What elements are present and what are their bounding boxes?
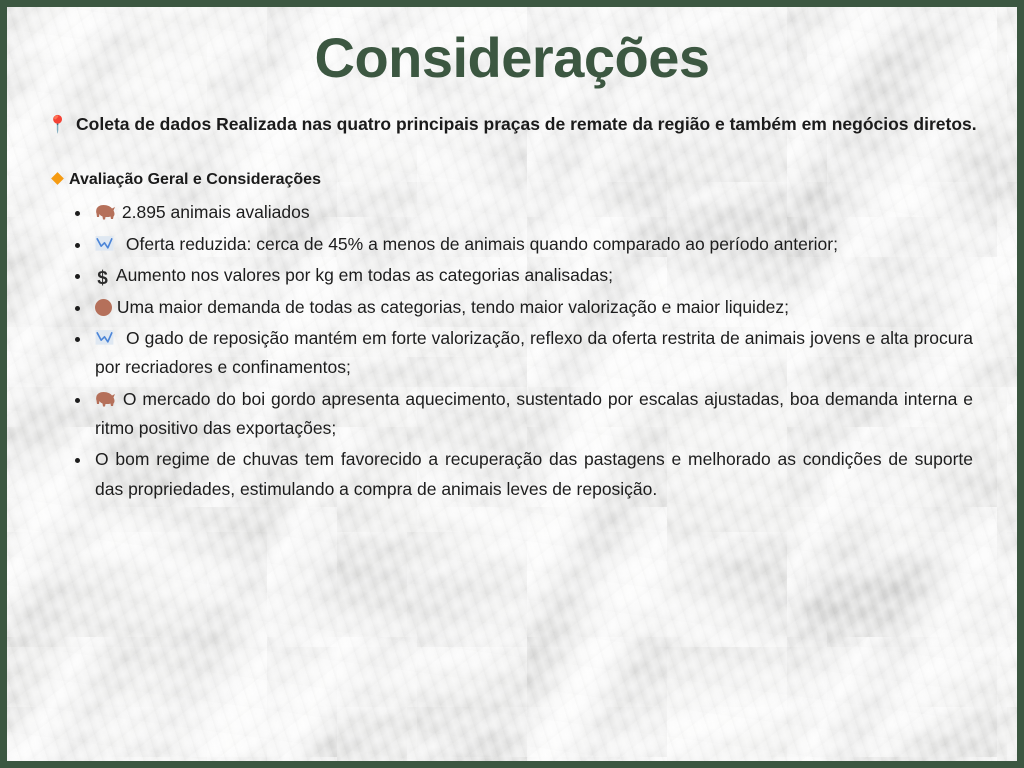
list-item: Oferta reduzida: cerca de 45% a menos de… (73, 230, 973, 259)
slide-content: Considerações 📍 Coleta de dados Realizad… (7, 7, 1017, 761)
section-heading-label: Avaliação Geral e Considerações (69, 168, 321, 192)
section-heading: Avaliação Geral e Considerações (53, 168, 979, 192)
list-item-text: Uma maior demanda de todas as categorias… (117, 297, 789, 317)
intro-paragraph: 📍 Coleta de dados Realizada nas quatro p… (47, 110, 977, 139)
list-item-text: Aumento nos valores por kg em todas as c… (116, 265, 613, 285)
list-item-text: O mercado do boi gordo apresenta aquecim… (95, 389, 973, 438)
considerations-list: 2.895 animais avaliados Oferta reduzida:… (45, 198, 979, 504)
cow-icon (95, 203, 116, 220)
bullet-lead (95, 328, 126, 348)
list-item-text: Oferta reduzida: cerca de 45% a menos de… (126, 234, 838, 254)
round-pushpin-icon: 📍 (47, 115, 68, 134)
list-item: O gado de reposição mantém em forte valo… (73, 324, 973, 383)
orange-diamond-icon (51, 172, 64, 185)
bullet-lead (95, 389, 123, 409)
list-item-text: O bom regime de chuvas tem favorecido a … (95, 449, 973, 498)
list-item-text: 2.895 animais avaliados (122, 202, 310, 222)
list-item: Uma maior demanda de todas as categorias… (73, 293, 973, 322)
list-item: $ Aumento nos valores por kg em todas as… (73, 261, 973, 290)
bullet-lead (95, 297, 117, 317)
list-item: O bom regime de chuvas tem favorecido a … (73, 445, 973, 504)
bullet-lead (95, 234, 126, 254)
slide-considerations: Considerações 📍 Coleta de dados Realizad… (0, 0, 1024, 768)
cow-icon (95, 390, 116, 407)
dollar-sign-icon: $ (95, 269, 110, 288)
chart-decreasing-icon (95, 235, 114, 252)
page-title: Considerações (45, 7, 979, 88)
list-item: O mercado do boi gordo apresenta aquecim… (73, 385, 973, 444)
bullet-lead (95, 202, 122, 222)
list-item-text: O gado de reposição mantém em forte valo… (95, 328, 973, 377)
list-item: 2.895 animais avaliados (73, 198, 973, 227)
bullet-lead: $ (95, 265, 116, 285)
intro-text: Coleta de dados Realizada nas quatro pri… (76, 114, 977, 134)
chart-decreasing-icon (95, 329, 114, 346)
brown-circle-icon (95, 299, 112, 316)
